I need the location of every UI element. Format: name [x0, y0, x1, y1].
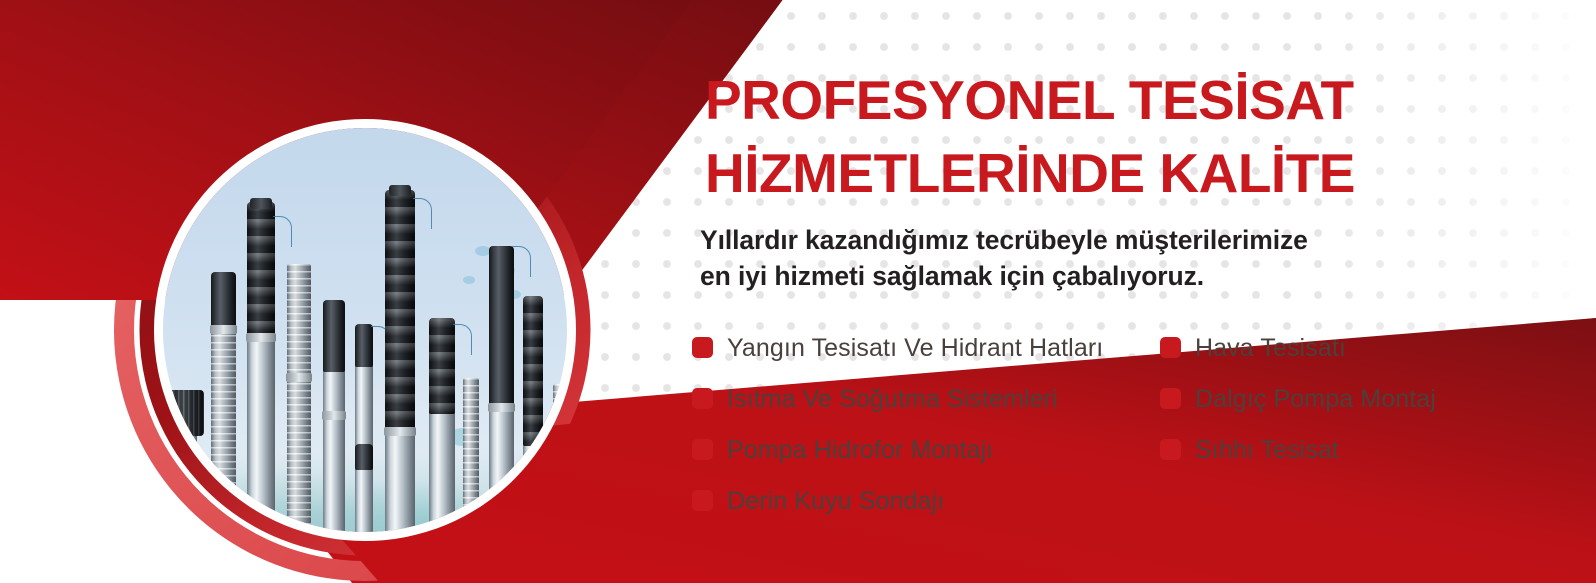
pump-band: [246, 333, 276, 342]
list-item[interactable]: Isıtma Ve Soğutma Sistemleri: [692, 373, 1103, 424]
water-splash: [463, 276, 475, 284]
banner-content: PROFESYONEL TESİSAT HİZMETLERİNDE KALİTE…: [700, 0, 1560, 583]
pump-unit: [385, 190, 415, 532]
pump-unit: [523, 296, 543, 532]
service-label: Derin Kuyu Sondajı: [727, 486, 944, 516]
pump-cap: [250, 198, 271, 209]
pump-head: [385, 190, 415, 432]
headline-line-2: HİZMETLERİNDE KALİTE: [705, 137, 1565, 210]
promo-banner: PROFESYONEL TESİSAT HİZMETLERİNDE KALİTE…: [0, 0, 1596, 583]
pump-shaft: [211, 314, 236, 532]
service-label: Sıhhı Tesisat: [1195, 435, 1339, 465]
pump-unit: [355, 324, 373, 532]
pump-head: [523, 296, 543, 446]
pump-shaft: [489, 398, 514, 532]
bullet-square-icon: [1160, 388, 1181, 409]
pump-cable: [273, 216, 292, 247]
pump-band: [286, 373, 312, 382]
bullet-square-icon: [692, 439, 713, 460]
list-item[interactable]: Sıhhı Tesisat: [1160, 424, 1436, 475]
services-column-left: Yangın Tesisatı Ve Hidrant Hatları Isıtm…: [692, 322, 1103, 526]
pump-band: [322, 411, 346, 420]
pump-cable: [453, 324, 472, 355]
pump-shaft: [429, 400, 455, 532]
list-item[interactable]: Yangın Tesisatı Ve Hidrant Hatları: [692, 322, 1103, 373]
pump-head: [489, 246, 514, 408]
pump-unit: [463, 378, 479, 532]
pump-head: [211, 272, 236, 327]
pump-shaft: [287, 264, 311, 532]
pump-shaft: [463, 378, 479, 532]
list-item[interactable]: Derin Kuyu Sondajı: [692, 475, 1103, 526]
bullet-square-icon: [1160, 439, 1181, 460]
pump-unit: [323, 300, 345, 532]
pump-coupling: [355, 444, 373, 470]
bullet-square-icon: [1160, 337, 1181, 358]
pump-unit: [553, 384, 567, 532]
service-label: Yangın Tesisatı Ve Hidrant Hatları: [727, 333, 1103, 363]
services-column-right: Hava Tesisatı Dalgıç Pompa Montaj Sıhhı …: [1160, 322, 1436, 475]
pump-head: [247, 202, 275, 336]
pump-unit: [175, 392, 197, 532]
subheadline-line-1: Yıllardır kazandığımız tecrübeyle müşter…: [700, 222, 1490, 258]
service-label: Dalgıç Pompa Montaj: [1195, 384, 1436, 414]
headline-line-1: PROFESYONEL TESİSAT: [705, 64, 1565, 137]
pump-head: [429, 318, 455, 414]
page-title: PROFESYONEL TESİSAT HİZMETLERİNDE KALİTE: [705, 64, 1565, 210]
pump-cable: [512, 246, 531, 277]
pump-unit: [489, 246, 514, 532]
pump-unit: [247, 202, 275, 532]
service-label: Pompa Hidrofor Montajı: [727, 435, 993, 465]
pump-band: [488, 403, 515, 412]
pump-unit: [429, 318, 455, 532]
pump-motor: [168, 390, 204, 436]
list-item[interactable]: Hava Tesisatı: [1160, 322, 1436, 373]
list-item[interactable]: Pompa Hidrofor Montajı: [692, 424, 1103, 475]
service-label: Isıtma Ve Soğutma Sistemleri: [727, 384, 1058, 414]
pump-shaft: [323, 362, 345, 532]
subheadline: Yıllardır kazandığımız tecrübeyle müşter…: [700, 222, 1490, 294]
pump-shaft: [523, 436, 543, 532]
pump-shaft: [175, 422, 197, 532]
pump-shaft: [247, 322, 275, 532]
pump-unit: [211, 272, 236, 532]
subheadline-line-2: en iyi hizmeti sağlamak için çabalıyoruz…: [700, 258, 1490, 294]
bullet-square-icon: [692, 337, 713, 358]
pump-cable: [413, 198, 432, 229]
pump-cap: [389, 185, 412, 196]
service-label: Hava Tesisatı: [1195, 333, 1346, 363]
pump-band: [210, 325, 237, 334]
pump-head: [323, 300, 345, 372]
bullet-square-icon: [692, 388, 713, 409]
submersible-pumps-photo: [163, 128, 567, 532]
list-item[interactable]: Dalgıç Pompa Montaj: [1160, 373, 1436, 424]
bullet-square-icon: [692, 490, 713, 511]
pump-shaft: [553, 384, 567, 532]
pump-unit: [287, 264, 311, 532]
pump-band: [384, 427, 416, 436]
